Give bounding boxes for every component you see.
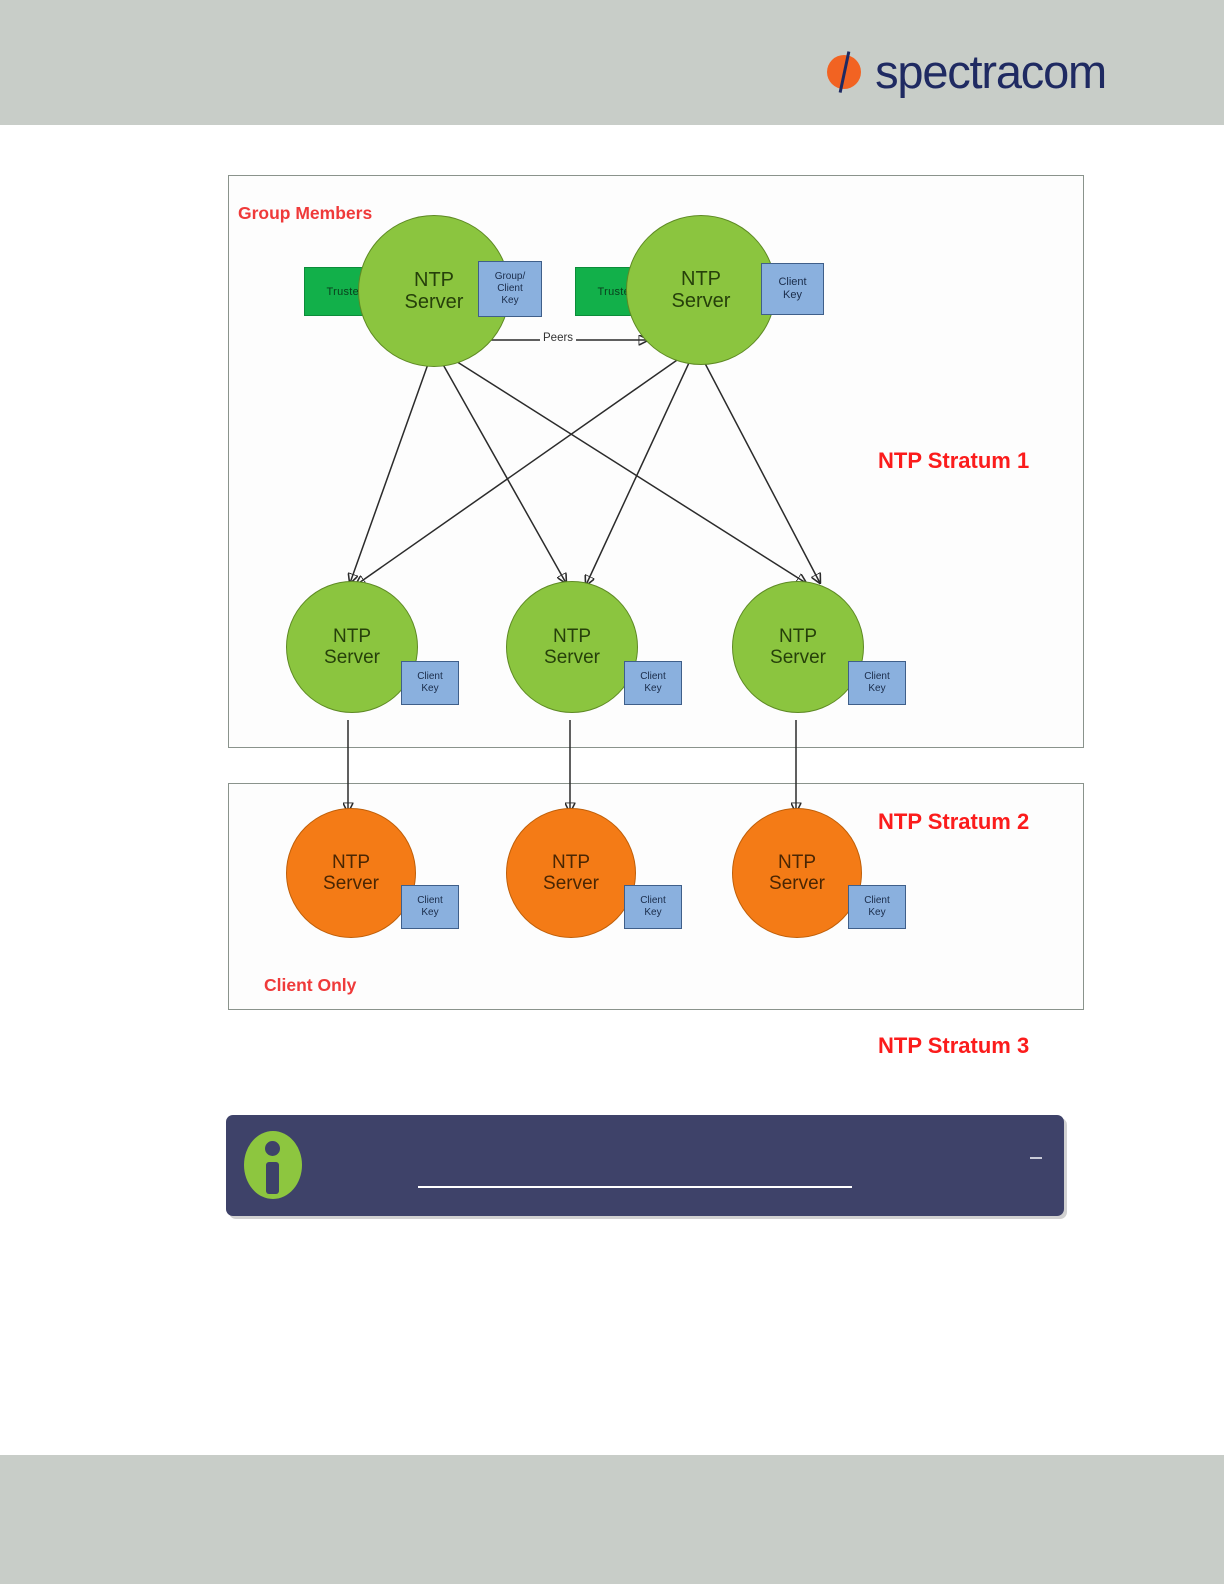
- key-line-1: Client: [640, 671, 666, 683]
- node-label-line2: Server: [405, 291, 464, 313]
- key-box-s1-right: Client Key: [761, 263, 824, 315]
- node-label-line1: NTP: [333, 626, 371, 647]
- ntp-autokey-diagram: Group Members Client Only NTP Stratum 1 …: [228, 175, 1084, 1010]
- key-line-1: Client: [864, 895, 890, 907]
- brand-name: spectracom: [875, 48, 1106, 95]
- node-label-line2: Server: [323, 873, 379, 894]
- info-callout: [226, 1115, 1064, 1216]
- info-callout-dash: [1030, 1157, 1042, 1159]
- key-line-1: Group/: [495, 271, 526, 283]
- node-label-line2: Server: [543, 873, 599, 894]
- node-label-line2: Server: [770, 647, 826, 668]
- key-box-s2-right: Client Key: [848, 661, 906, 705]
- ntp-server-node-s2-right[interactable]: NTP Server: [732, 581, 864, 713]
- stratum-label-3: NTP Stratum 3: [878, 1033, 1029, 1059]
- key-box-s2-left: Client Key: [401, 661, 459, 705]
- key-line-2: Key: [421, 683, 438, 695]
- info-callout-underline: [418, 1186, 852, 1188]
- node-label-line1: NTP: [414, 269, 454, 291]
- node-label-line1: NTP: [552, 852, 590, 873]
- spectracom-compass-icon: [823, 51, 865, 93]
- peers-link-label: Peers: [540, 332, 576, 344]
- node-label-line1: NTP: [681, 268, 721, 290]
- key-line-1: Client: [417, 895, 443, 907]
- ntp-server-node-s3-right[interactable]: NTP Server: [732, 808, 862, 938]
- node-label-line2: Server: [544, 647, 600, 668]
- key-box-s3-left: Client Key: [401, 885, 459, 929]
- node-label-line2: Server: [324, 647, 380, 668]
- key-line-2: Key: [868, 683, 885, 695]
- key-line-2: Key: [868, 907, 885, 919]
- page-footer-band: [0, 1455, 1224, 1584]
- key-box-s1-left: Group/ Client Key: [478, 261, 542, 317]
- key-line-1: Client: [417, 671, 443, 683]
- node-label-line1: NTP: [553, 626, 591, 647]
- key-line-2: Key: [783, 289, 802, 302]
- ntp-server-node-s1-right[interactable]: NTP Server: [626, 215, 776, 365]
- key-box-s2-center: Client Key: [624, 661, 682, 705]
- key-line-1: Client: [640, 895, 666, 907]
- key-line-1: Client: [778, 276, 806, 289]
- brand-logo: spectracom: [823, 48, 1106, 95]
- info-icon: [244, 1131, 302, 1199]
- key-line-2: Key: [644, 907, 661, 919]
- key-line-3: Key: [501, 295, 518, 307]
- node-label-line1: NTP: [779, 626, 817, 647]
- ntp-server-node-s3-center[interactable]: NTP Server: [506, 808, 636, 938]
- node-label-line2: Server: [769, 873, 825, 894]
- node-label-line1: NTP: [778, 852, 816, 873]
- key-line-2: Client: [497, 283, 523, 295]
- key-box-s3-center: Client Key: [624, 885, 682, 929]
- key-line-2: Key: [644, 683, 661, 695]
- key-line-1: Client: [864, 671, 890, 683]
- key-box-s3-right: Client Key: [848, 885, 906, 929]
- ntp-server-node-s2-left[interactable]: NTP Server: [286, 581, 418, 713]
- ntp-server-node-s3-left[interactable]: NTP Server: [286, 808, 416, 938]
- key-line-2: Key: [421, 907, 438, 919]
- ntp-server-node-s2-center[interactable]: NTP Server: [506, 581, 638, 713]
- node-label-line2: Server: [672, 290, 731, 312]
- node-label-line1: NTP: [332, 852, 370, 873]
